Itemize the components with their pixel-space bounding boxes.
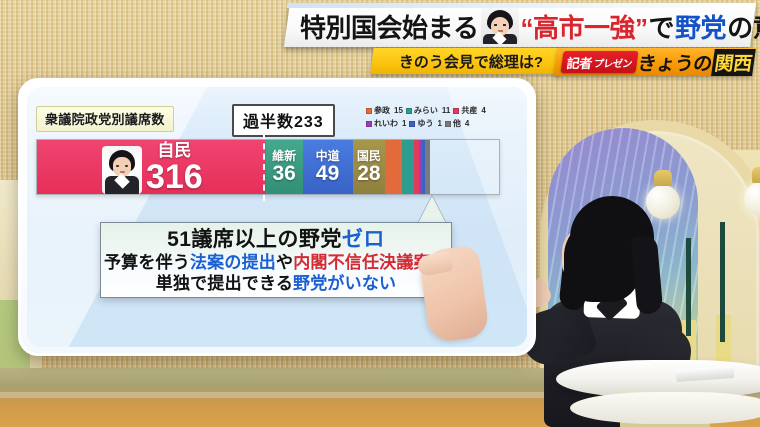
legend-label: ゆう (417, 118, 433, 129)
bar-segment-label: 中道 (316, 150, 340, 163)
press-badge-main: 記者 (566, 53, 594, 72)
ldp-leader-photo (102, 146, 142, 194)
bar-segment-value: 49 (316, 163, 339, 185)
legend-label: 他 (453, 118, 461, 129)
press-presentation-badge: 記者 プレゼン (560, 51, 638, 73)
studio-post (720, 222, 725, 342)
bar-segment-ishin: 維新 36 (266, 140, 303, 194)
bar-segment-ldp: 自民 316 (37, 140, 266, 194)
legend-item: みらい 11 (406, 105, 450, 116)
program-title-a: きょうの (636, 49, 714, 76)
photo-eye (494, 24, 497, 26)
bar-segment-label: 国民 (357, 150, 381, 163)
headline-part-2: “高市一強” (521, 8, 648, 45)
bar-segment-value: 36 (272, 163, 295, 185)
legend-item: 共産 4 (453, 105, 485, 116)
headline-part-4: 野党 (675, 8, 726, 45)
callout-line-1: 51議席以上の野党ゼロ (101, 228, 451, 252)
photo-eye (125, 165, 128, 167)
legend-item: 他 4 (445, 118, 469, 129)
callout-line2-blue: 法案の提出 (190, 253, 276, 272)
callout-line2-b: や (276, 253, 293, 272)
legend-swatch-icon (406, 108, 412, 114)
presenter-hair (631, 235, 664, 315)
callout-line1-main: 51議席以上の野党 (167, 228, 342, 251)
callout-line-2: 予算を伴う法案の提出や内閣不信任決議案を (101, 252, 451, 273)
bar-segment-label: 維新 (272, 150, 296, 163)
bar-segment-chudo: 中道 49 (303, 140, 353, 194)
presenter-collar (583, 287, 640, 319)
legend-swatch-icon (453, 108, 459, 114)
chart-legend: 参政 15 みらい 11 共産 4 れいわ 1 ゆう (366, 105, 516, 131)
bar-segment-sansei (385, 140, 402, 194)
bar-segment-other (425, 140, 430, 194)
legend-value: 4 (465, 118, 469, 129)
callout-line3-a: 単独で提出できる (156, 274, 293, 293)
callout-pointer-icon (418, 196, 446, 223)
subtitle-text: きのう会見で総理は? (386, 51, 556, 72)
bar-segment-ldp-text: 自民 316 (146, 141, 203, 194)
legend-swatch-icon (366, 108, 372, 114)
legend-swatch-icon (445, 121, 451, 127)
majority-label: 過半数233 (232, 104, 335, 137)
callout-line3-blue: 野党がいない (293, 274, 396, 293)
legend-value: 1 (402, 118, 406, 129)
program-title-b: 関西 (711, 49, 756, 76)
headline-part-5: の意味は (727, 8, 760, 45)
bar-segment-value: 28 (357, 163, 380, 185)
legend-label: 共産 (461, 105, 477, 116)
headline-part-3: で (649, 8, 675, 45)
legend-label: みらい (414, 105, 438, 116)
legend-row-1: 参政 15 みらい 11 共産 4 (366, 105, 516, 116)
callout-box: 51議席以上の野党ゼロ 予算を伴う法案の提出や内閣不信任決議案を 単独で提出でき… (100, 222, 452, 298)
legend-label: れいわ (374, 118, 398, 129)
press-badge-sub: プレゼン (593, 55, 633, 70)
legend-value: 1 (437, 118, 441, 129)
callout-line2-red: 内閣不信任決議案 (293, 253, 431, 272)
legend-label: 参政 (374, 105, 390, 116)
headline-part-1: 特別国会始まる (300, 8, 479, 45)
broadcast-screenshot: 衆議院政党別議席数 過半数233 参政 15 みらい 11 共産 4 (0, 0, 760, 427)
headline-text: 特別国会始まる “高市一強” で 野党 の意味は (300, 8, 752, 44)
headline-inset-photo (481, 8, 519, 44)
legend-item: ゆう 1 (409, 118, 441, 129)
legend-row-2: れいわ 1 ゆう 1 他 4 (366, 118, 516, 129)
callout-line-3: 単独で提出できる野党がいない (101, 273, 451, 294)
bar-segment-label: 自民 (157, 141, 191, 160)
legend-swatch-icon (409, 121, 415, 127)
legend-swatch-icon (366, 121, 372, 127)
photo-eye (116, 165, 119, 167)
callout-line1-emph: ゼロ (342, 228, 385, 251)
legend-value: 4 (481, 105, 485, 116)
legend-value: 15 (394, 105, 403, 116)
legend-value: 11 (442, 105, 450, 116)
legend-item: れいわ 1 (366, 118, 406, 129)
legend-item: 参政 15 (366, 105, 403, 116)
bar-segment-kokumin: 国民 28 (353, 140, 386, 194)
photo-eye (503, 24, 506, 26)
bar-segment-value: 316 (146, 160, 203, 194)
seat-distribution-bar: 自民 316 維新 36 中道 49 国民 28 (36, 139, 500, 195)
majority-reference-line (263, 133, 265, 201)
studio-desk-lower (570, 392, 760, 424)
bar-segment-mirai (402, 140, 414, 194)
program-title: きょうの 関西 (636, 50, 755, 74)
callout-line2-a: 予算を伴う (104, 253, 190, 272)
chart-title: 衆議院政党別議席数 (36, 106, 174, 132)
